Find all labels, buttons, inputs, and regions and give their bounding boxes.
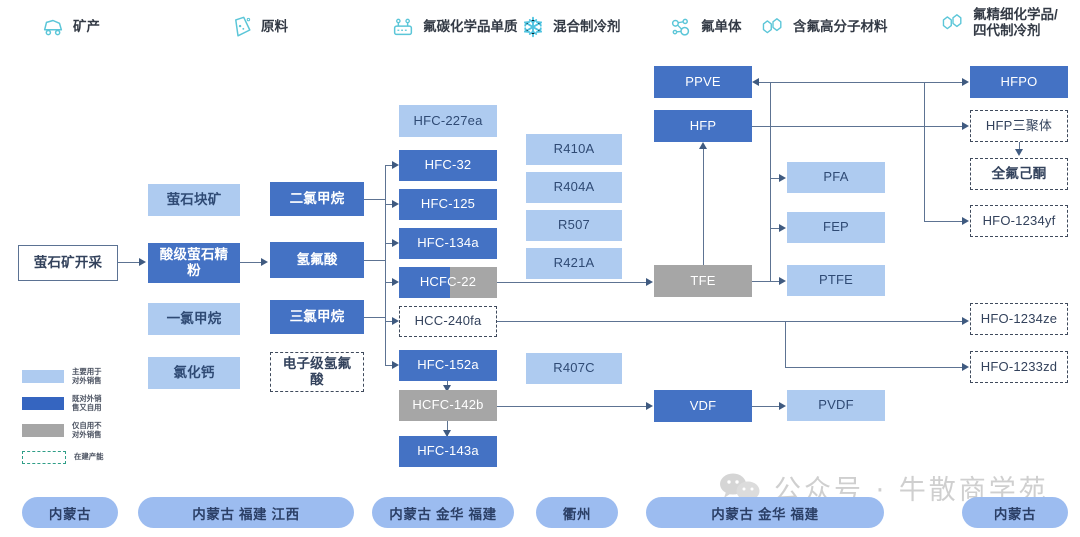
node-label: HFC-143a (417, 444, 479, 459)
node-monochloromethane[interactable]: 一氯甲烷 (148, 303, 240, 335)
node-label: HFP三聚体 (986, 119, 1052, 134)
factory-icon (390, 14, 416, 40)
node-label: R507 (558, 218, 590, 233)
edge-tfe-polymertrunk (752, 281, 772, 282)
trunk-vertical-polymer (770, 82, 771, 281)
node-label: HCFC-142b (412, 398, 483, 413)
arrowhead (392, 317, 399, 325)
region-pill[interactable]: 衢州 (536, 497, 618, 528)
arrowhead (962, 122, 969, 130)
edge-trunk-hfpo (924, 82, 963, 83)
node-hfo-1233zd[interactable]: HFO-1233zd (970, 351, 1068, 383)
node-ppve[interactable]: PPVE (654, 66, 752, 98)
node-label: R421A (554, 256, 595, 271)
node-label: R404A (554, 180, 595, 195)
node-label: HFO-1234yf (983, 214, 1056, 229)
node-label: 萤石矿开采 (34, 255, 103, 271)
node-label: HFC-125 (421, 197, 475, 212)
node-perfluorohexanone[interactable]: 全氟己酮 (970, 158, 1068, 190)
node-tfe[interactable]: TFE (654, 265, 752, 297)
node-mining[interactable]: 萤石矿开采 (18, 245, 118, 281)
node-hfo-1234ze[interactable]: HFO-1234ze (970, 303, 1068, 335)
node-label: 一氯甲烷 (167, 311, 222, 327)
node-label: PFA (823, 170, 848, 185)
node-label: 酸级萤石精粉 (154, 247, 234, 278)
node-electronic-grade-hf[interactable]: 电子级氢氟酸 (270, 352, 364, 392)
node-vdf[interactable]: VDF (654, 390, 752, 422)
node-label: HFC-32 (425, 158, 472, 173)
node-label: 二氯甲烷 (290, 191, 345, 207)
legend-item-under-construction: 在建产能 (22, 447, 142, 467)
header-item-fluorocarbon: 氟碳化学品单质 (390, 14, 518, 40)
header-item-fine-chemical: 氟精细化学品/ 四代制冷剂 (940, 7, 1058, 38)
header-item-mineral: 矿产 (40, 14, 100, 40)
node-dichloromethane[interactable]: 二氯甲烷 (270, 182, 364, 216)
edge-tfe-hfp (703, 147, 704, 265)
legend-label: 在建产能 (74, 452, 104, 461)
node-acid-fluorite-powder[interactable]: 酸级萤石精粉 (148, 243, 240, 283)
region-pill-label: 内蒙古 金华 福建 (711, 503, 818, 523)
node-label: VDF (690, 399, 717, 414)
header-item-label: 氟精细化学品/ 四代制冷剂 (973, 7, 1058, 38)
flask-icon (228, 14, 254, 40)
node-fep[interactable]: FEP (787, 212, 885, 243)
node-label: 萤石块矿 (167, 192, 222, 208)
node-r507[interactable]: R507 (526, 210, 622, 241)
legend-item-both: 既对外销 售又自用 (22, 393, 142, 413)
edge-hfp-right (752, 126, 963, 127)
node-label: HFO-1234ze (981, 312, 1057, 327)
region-pill-label: 内蒙古 (994, 503, 1036, 523)
node-calcium-chloride[interactable]: 氯化钙 (148, 357, 240, 389)
node-hfc-32[interactable]: HFC-32 (399, 150, 497, 181)
fine-chem-hex-icon (940, 10, 966, 36)
header-item-label: 混合制冷剂 (553, 19, 621, 35)
node-hfpo[interactable]: HFPO (970, 66, 1068, 98)
node-label: HFC-134a (417, 236, 479, 251)
edge-hcfc22-tfe (497, 282, 647, 283)
edge-trunk-hfo1234yf (924, 221, 963, 222)
legend-label: 既对外销 售又自用 (72, 394, 102, 413)
node-r410a[interactable]: R410A (526, 134, 622, 165)
mineral-cart-icon (40, 14, 66, 40)
arrowhead (962, 363, 969, 371)
node-label: PVDF (818, 398, 853, 413)
node-hfc-152a[interactable]: HFC-152a (399, 350, 497, 381)
legend-item-external-sales: 主要用于 对外销售 (22, 366, 142, 386)
edge-hcc240fa-hfo1234ze (497, 321, 963, 322)
node-label: PTFE (819, 273, 853, 288)
arrowhead (392, 161, 399, 169)
polymer-hex-icon (760, 14, 786, 40)
node-label: 氢氟酸 (296, 252, 337, 268)
node-label: 全氟己酮 (992, 166, 1047, 182)
node-hfp-trimer[interactable]: HFP三聚体 (970, 110, 1068, 142)
edge-dichloro-trunk (364, 199, 386, 200)
legend-item-self-use: 仅自用不 对外销售 (22, 420, 142, 440)
arrowhead (392, 239, 399, 247)
region-pill[interactable]: 内蒙古 (962, 497, 1068, 528)
node-r421a[interactable]: R421A (526, 248, 622, 279)
node-r407c[interactable]: R407C (526, 353, 622, 384)
node-label: 电子级氢氟酸 (276, 356, 358, 387)
node-hydrofluoric-acid[interactable]: 氢氟酸 (270, 242, 364, 278)
trunk-vertical-right (924, 82, 925, 222)
node-label: HFO-1233zd (981, 360, 1057, 375)
trunk-vertical-hfc (385, 165, 386, 365)
legend: 主要用于 对外销售 既对外销 售又自用 仅自用不 对外销售 在建产能 (22, 366, 142, 474)
arrowhead (139, 258, 146, 266)
arrowhead (392, 361, 399, 369)
node-hfp[interactable]: HFP (654, 110, 752, 142)
legend-swatch-dashed (22, 451, 66, 464)
region-pill[interactable]: 内蒙古 金华 福建 (646, 497, 884, 528)
node-label: HCFC-22 (399, 275, 497, 290)
node-trichloromethane[interactable]: 三氯甲烷 (270, 300, 364, 334)
edge-vdf-pvdf (752, 406, 780, 407)
legend-swatch-dark-blue (22, 397, 64, 410)
arrowhead (962, 317, 969, 325)
snowflake-icon (520, 14, 546, 40)
node-label: HFPO (1001, 75, 1038, 90)
legend-swatch-gray (22, 424, 64, 437)
arrowhead (962, 78, 969, 86)
header-item-fluoropolymer: 含氟高分子材料 (760, 14, 888, 40)
arrowhead (1015, 149, 1023, 156)
header-item-mixed-refrigerant: 混合制冷剂 (520, 14, 621, 40)
edge-mining-acidfluorite (118, 262, 140, 263)
header-item-raw-material: 原料 (228, 14, 288, 40)
region-pill-label: 内蒙古 金华 福建 (389, 503, 496, 523)
edge-acidfluorite-hfacid (240, 262, 262, 263)
branch-vertical-hfo (785, 321, 786, 367)
region-pill-label: 内蒙古 福建 江西 (192, 503, 299, 523)
node-label: HCC-240fa (415, 314, 482, 329)
node-hcfc-22[interactable]: HCFC-22 (399, 267, 497, 298)
region-pill[interactable]: 内蒙古 金华 福建 (372, 497, 514, 528)
header-item-fluoro-monomer: 氟单体 (668, 14, 742, 40)
legend-label: 仅自用不 对外销售 (72, 421, 102, 440)
node-label: HFP (690, 119, 717, 134)
arrowhead (646, 402, 653, 410)
node-label: R407C (553, 361, 594, 376)
node-pvdf[interactable]: PVDF (787, 390, 885, 421)
node-hfc-134a[interactable]: HFC-134a (399, 228, 497, 259)
node-hfc-227ea[interactable]: HFC-227ea (399, 105, 497, 137)
header-item-label: 氟单体 (701, 19, 742, 35)
edge-hcfc142b-vdf (497, 406, 647, 407)
arrowhead (646, 278, 653, 286)
arrowhead (392, 278, 399, 286)
node-label: PPVE (685, 75, 720, 90)
edge-hfacid-trunk (364, 260, 386, 261)
node-label: 氯化钙 (173, 365, 214, 381)
arrowhead (392, 200, 399, 208)
arrowhead (962, 217, 969, 225)
node-label: R410A (554, 142, 595, 157)
arrowhead (699, 142, 707, 149)
region-pill-label: 衢州 (563, 503, 591, 523)
arrowhead (261, 258, 268, 266)
region-pill[interactable]: 内蒙古 福建 江西 (138, 497, 354, 528)
node-r404a[interactable]: R404A (526, 172, 622, 203)
node-hcfc-142b[interactable]: HCFC-142b (399, 390, 497, 421)
arrowhead (779, 224, 786, 232)
flowchart-canvas: 矿产 原料 氟碳化学品单质 (0, 0, 1080, 537)
header-item-label: 氟碳化学品单质 (423, 19, 518, 35)
header-item-label: 矿产 (73, 19, 100, 35)
region-pill[interactable]: 内蒙古 (22, 497, 118, 528)
header-item-label: 含氟高分子材料 (793, 19, 888, 35)
node-fluorite-lump[interactable]: 萤石块矿 (148, 184, 240, 216)
node-label: HFC-227ea (414, 114, 483, 129)
node-hfc-125[interactable]: HFC-125 (399, 189, 497, 220)
node-label: 三氯甲烷 (290, 309, 345, 325)
legend-label: 主要用于 对外销售 (72, 367, 102, 386)
node-hfo-1234yf[interactable]: HFO-1234yf (970, 205, 1068, 237)
arrowhead (779, 174, 786, 182)
edge-trichloro-trunk (364, 317, 386, 318)
node-hfc-143a[interactable]: HFC-143a (399, 436, 497, 467)
node-hcc-240fa[interactable]: HCC-240fa (399, 306, 497, 337)
arrowhead (779, 277, 786, 285)
edge-branch-hfo1233zd (785, 367, 963, 368)
node-label: TFE (690, 274, 715, 289)
node-label: HFC-152a (417, 358, 479, 373)
node-label: FEP (823, 220, 849, 235)
header-item-label: 原料 (261, 19, 288, 35)
arrowhead (752, 78, 759, 86)
arrowhead (779, 402, 786, 410)
region-pill-label: 内蒙古 (49, 503, 91, 523)
molecule-icon (668, 14, 694, 40)
legend-swatch-light-blue (22, 370, 64, 383)
node-pfa[interactable]: PFA (787, 162, 885, 193)
node-ptfe[interactable]: PTFE (787, 265, 885, 296)
